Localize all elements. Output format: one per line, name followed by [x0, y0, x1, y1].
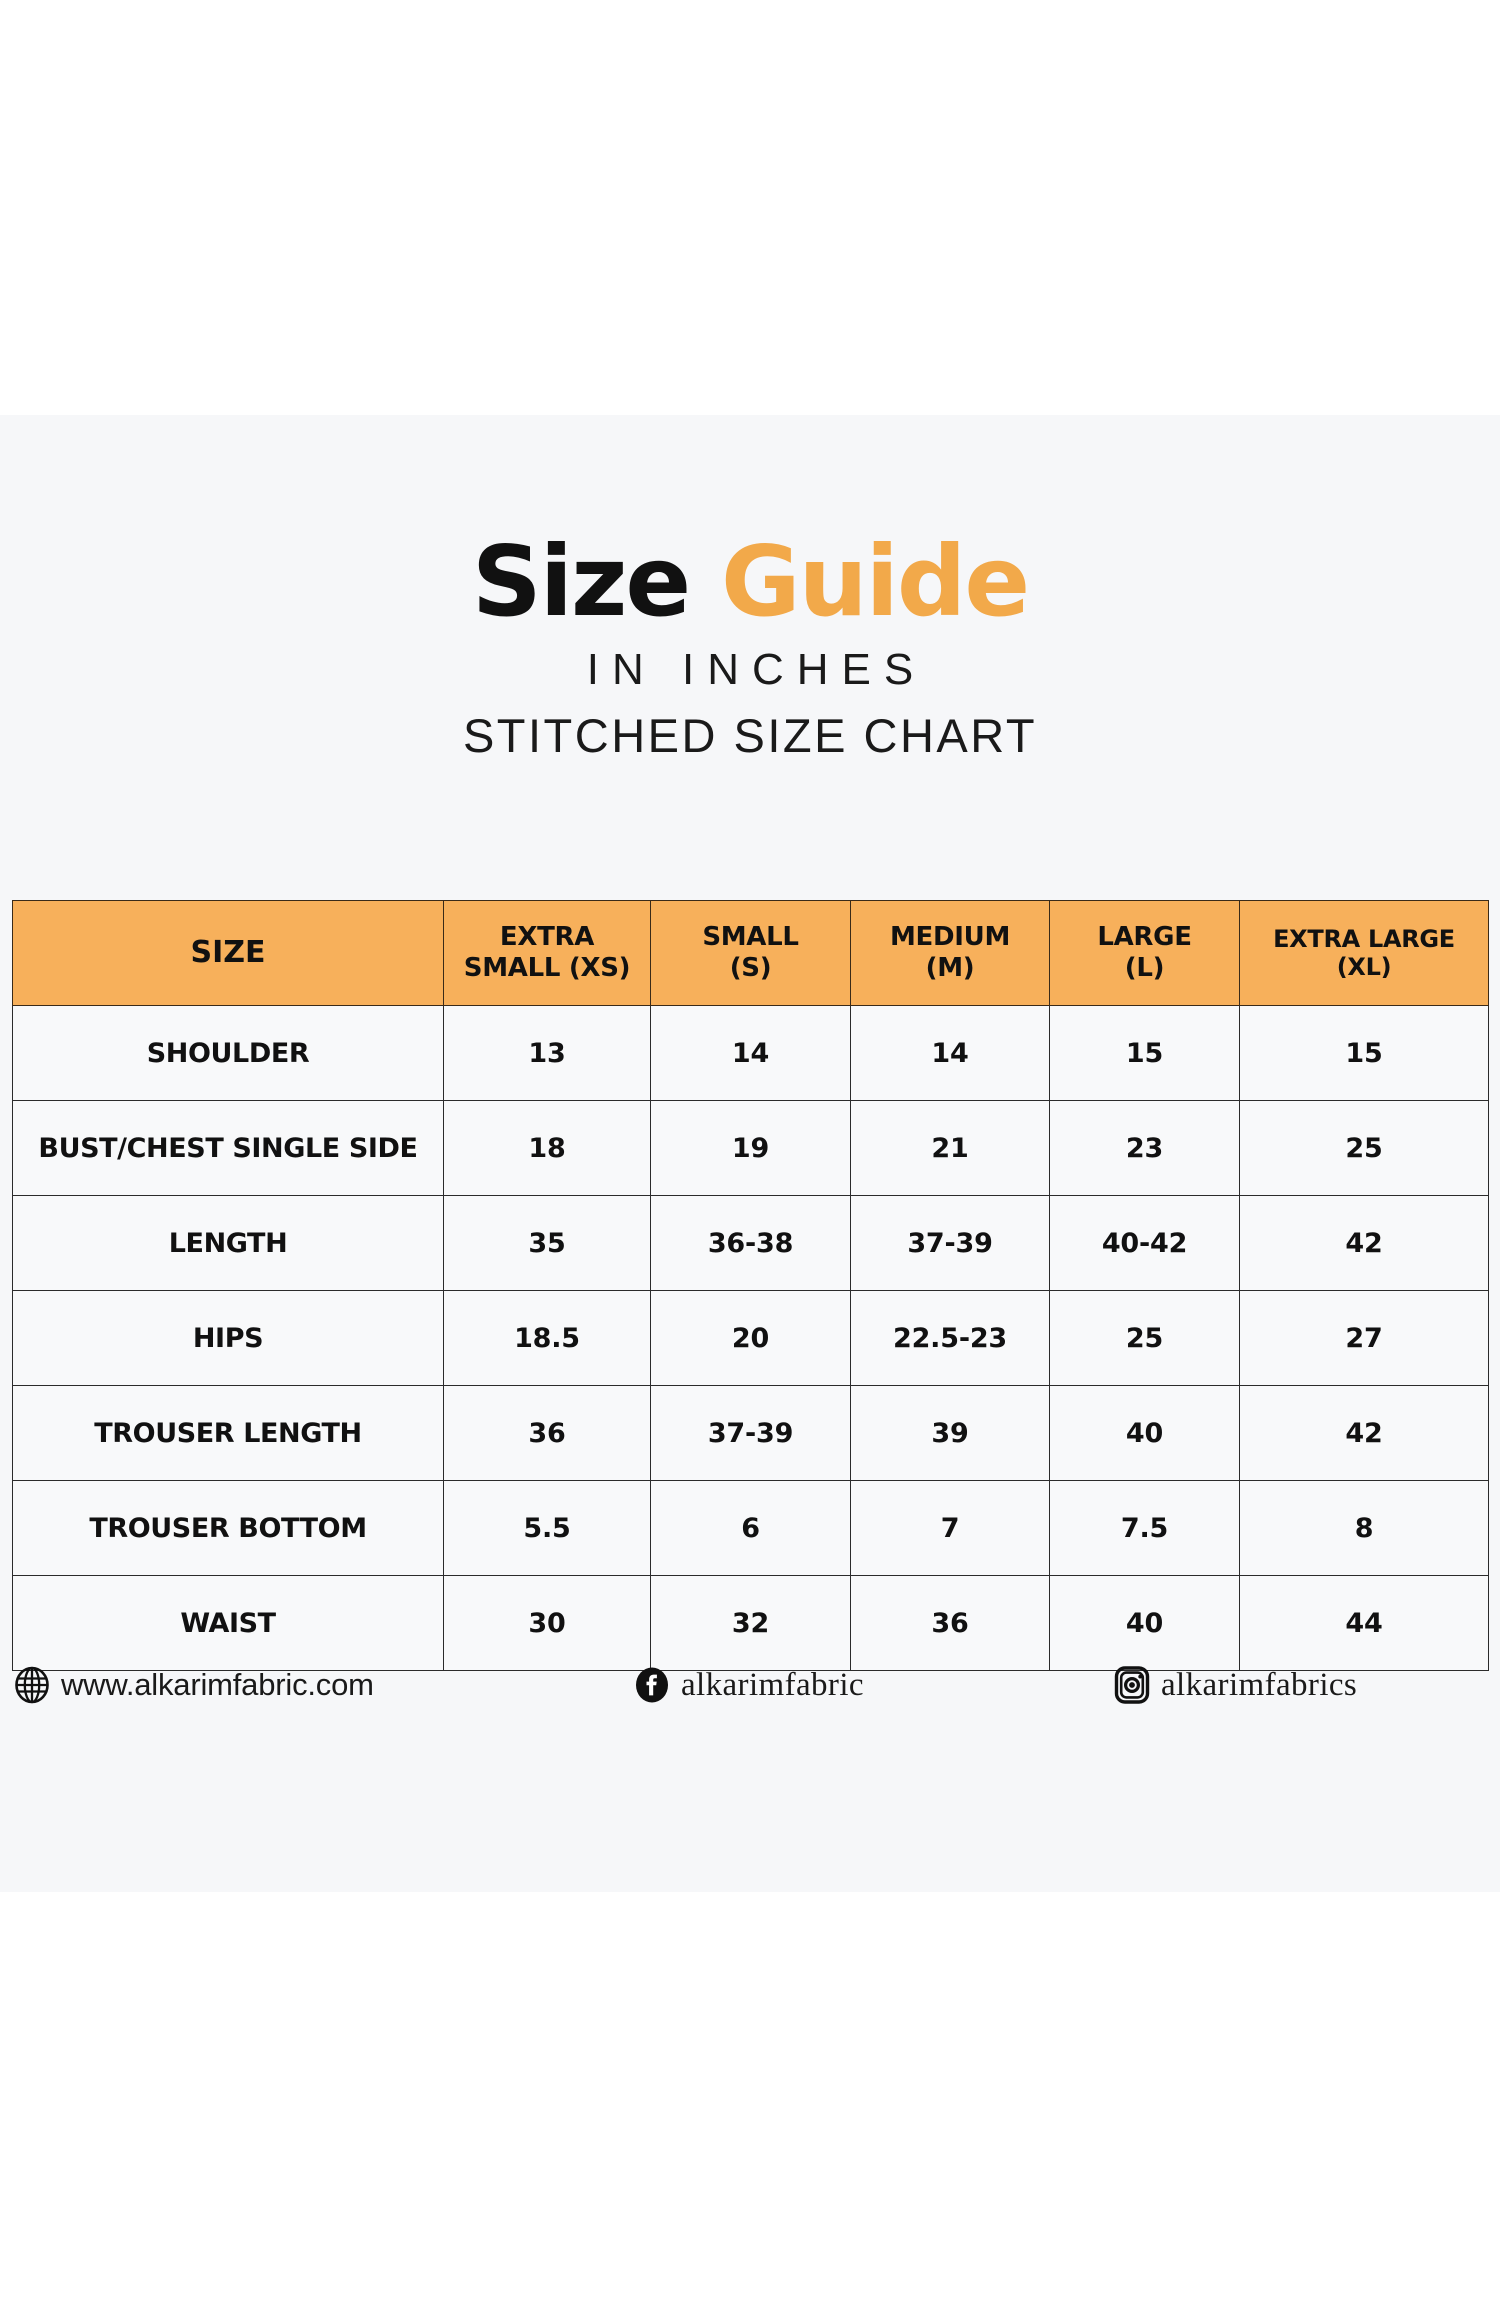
table-row: TROUSER BOTTOM 5.5 6 7 7.5 8	[13, 1481, 1489, 1576]
cell-length-s: 36-38	[651, 1196, 851, 1291]
row-label-hips: HIPS	[13, 1291, 444, 1386]
footer-facebook-label: alkarimfabric	[681, 1667, 864, 1704]
cell-bust-xs: 18	[444, 1101, 651, 1196]
column-header-l-line-2: (L)	[1125, 953, 1164, 983]
title-block: Size Guide IN INCHES STITCHED SIZE CHART	[0, 533, 1500, 759]
table-row: BUST/CHEST SINGLE SIDE 18 19 21 23 25	[13, 1101, 1489, 1196]
globe-icon	[12, 1665, 52, 1705]
cell-hips-xs: 18.5	[444, 1291, 651, 1386]
table-header: SIZE EXTRA SMALL (XS) SMALL (S) MEDIUM	[13, 901, 1489, 1006]
cell-waist-xs: 30	[444, 1576, 651, 1671]
cell-hips-l: 25	[1050, 1291, 1240, 1386]
cell-hips-m: 22.5-23	[851, 1291, 1050, 1386]
row-label-length: LENGTH	[13, 1196, 444, 1291]
cell-waist-xl: 44	[1240, 1576, 1489, 1671]
title-word-size: Size	[472, 525, 689, 638]
cell-shoulder-m: 14	[851, 1006, 1050, 1101]
title-word-guide: Guide	[721, 525, 1028, 638]
row-label-trouser-length: TROUSER LENGTH	[13, 1386, 444, 1481]
column-header-s-line-1: SMALL	[702, 922, 798, 952]
table-row: HIPS 18.5 20 22.5-23 25 27	[13, 1291, 1489, 1386]
column-header-l-line-1: LARGE	[1097, 922, 1191, 952]
cell-trouser-bottom-xl: 8	[1240, 1481, 1489, 1576]
footer-website[interactable]: www.alkarimfabric.com	[12, 1665, 632, 1705]
cell-shoulder-l: 15	[1050, 1006, 1240, 1101]
footer-instagram[interactable]: alkarimfabrics	[1112, 1665, 1488, 1705]
cell-trouser-length-xs: 36	[444, 1386, 651, 1481]
column-header-s-line-2: (S)	[730, 953, 772, 983]
cell-waist-s: 32	[651, 1576, 851, 1671]
page-title: Size Guide	[0, 533, 1500, 630]
cell-bust-s: 19	[651, 1101, 851, 1196]
cell-bust-xl: 25	[1240, 1101, 1489, 1196]
cell-hips-s: 20	[651, 1291, 851, 1386]
cell-waist-l: 40	[1050, 1576, 1240, 1671]
cell-trouser-bottom-m: 7	[851, 1481, 1050, 1576]
column-header-xl: EXTRA LARGE (XL)	[1240, 901, 1489, 1006]
cell-trouser-bottom-l: 7.5	[1050, 1481, 1240, 1576]
column-header-xl-line-2: (XL)	[1337, 953, 1392, 981]
column-header-xs-line-2: SMALL (XS)	[464, 953, 630, 983]
row-label-waist: WAIST	[13, 1576, 444, 1671]
cell-trouser-length-m: 39	[851, 1386, 1050, 1481]
column-header-xs: EXTRA SMALL (XS)	[444, 901, 651, 1006]
table-body: SHOULDER 13 14 14 15 15 BUST/CHEST SINGL…	[13, 1006, 1489, 1671]
cell-length-xl: 42	[1240, 1196, 1489, 1291]
size-chart-table-container: SIZE EXTRA SMALL (XS) SMALL (S) MEDIUM	[12, 900, 1488, 1671]
title-space	[689, 525, 721, 638]
size-guide-canvas: Size Guide IN INCHES STITCHED SIZE CHART…	[0, 0, 1500, 2300]
column-header-s: SMALL (S)	[651, 901, 851, 1006]
cell-trouser-length-xl: 42	[1240, 1386, 1489, 1481]
instagram-icon	[1112, 1665, 1152, 1705]
cell-trouser-bottom-xs: 5.5	[444, 1481, 651, 1576]
cell-length-m: 37-39	[851, 1196, 1050, 1291]
footer-website-label: www.alkarimfabric.com	[61, 1667, 374, 1703]
cell-length-xs: 35	[444, 1196, 651, 1291]
table-row: WAIST 30 32 36 40 44	[13, 1576, 1489, 1671]
column-header-xl-line-1: EXTRA LARGE	[1273, 925, 1455, 953]
cell-waist-m: 36	[851, 1576, 1050, 1671]
table-header-row: SIZE EXTRA SMALL (XS) SMALL (S) MEDIUM	[13, 901, 1489, 1006]
column-header-m: MEDIUM (M)	[851, 901, 1050, 1006]
footer-contact-bar: www.alkarimfabric.com alkarimfabric	[12, 1665, 1488, 1705]
facebook-icon	[632, 1665, 672, 1705]
cell-shoulder-xs: 13	[444, 1006, 651, 1101]
cell-trouser-bottom-s: 6	[651, 1481, 851, 1576]
cell-bust-m: 21	[851, 1101, 1050, 1196]
column-header-m-line-2: (M)	[926, 953, 975, 983]
table-row: SHOULDER 13 14 14 15 15	[13, 1006, 1489, 1101]
subtitle-chart-type: STITCHED SIZE CHART	[0, 712, 1500, 759]
column-header-xs-line-1: EXTRA	[500, 922, 594, 952]
table-row: LENGTH 35 36-38 37-39 40-42 42	[13, 1196, 1489, 1291]
cell-bust-l: 23	[1050, 1101, 1240, 1196]
column-header-size-line-1: SIZE	[190, 935, 265, 970]
footer-facebook[interactable]: alkarimfabric	[632, 1665, 1112, 1705]
cell-trouser-length-s: 37-39	[651, 1386, 851, 1481]
table-row: TROUSER LENGTH 36 37-39 39 40 42	[13, 1386, 1489, 1481]
column-header-size: SIZE	[13, 901, 444, 1006]
footer-instagram-label: alkarimfabrics	[1161, 1667, 1357, 1704]
cell-length-l: 40-42	[1050, 1196, 1240, 1291]
column-header-l: LARGE (L)	[1050, 901, 1240, 1006]
row-label-shoulder: SHOULDER	[13, 1006, 444, 1101]
subtitle-units: IN INCHES	[0, 648, 1500, 692]
size-guide-panel: Size Guide IN INCHES STITCHED SIZE CHART…	[0, 415, 1500, 1892]
column-header-m-line-1: MEDIUM	[890, 922, 1010, 952]
cell-hips-xl: 27	[1240, 1291, 1489, 1386]
cell-shoulder-xl: 15	[1240, 1006, 1489, 1101]
cell-trouser-length-l: 40	[1050, 1386, 1240, 1481]
size-chart-table: SIZE EXTRA SMALL (XS) SMALL (S) MEDIUM	[12, 900, 1489, 1671]
row-label-trouser-bottom: TROUSER BOTTOM	[13, 1481, 444, 1576]
cell-shoulder-s: 14	[651, 1006, 851, 1101]
row-label-bust-chest-single-side: BUST/CHEST SINGLE SIDE	[13, 1101, 444, 1196]
